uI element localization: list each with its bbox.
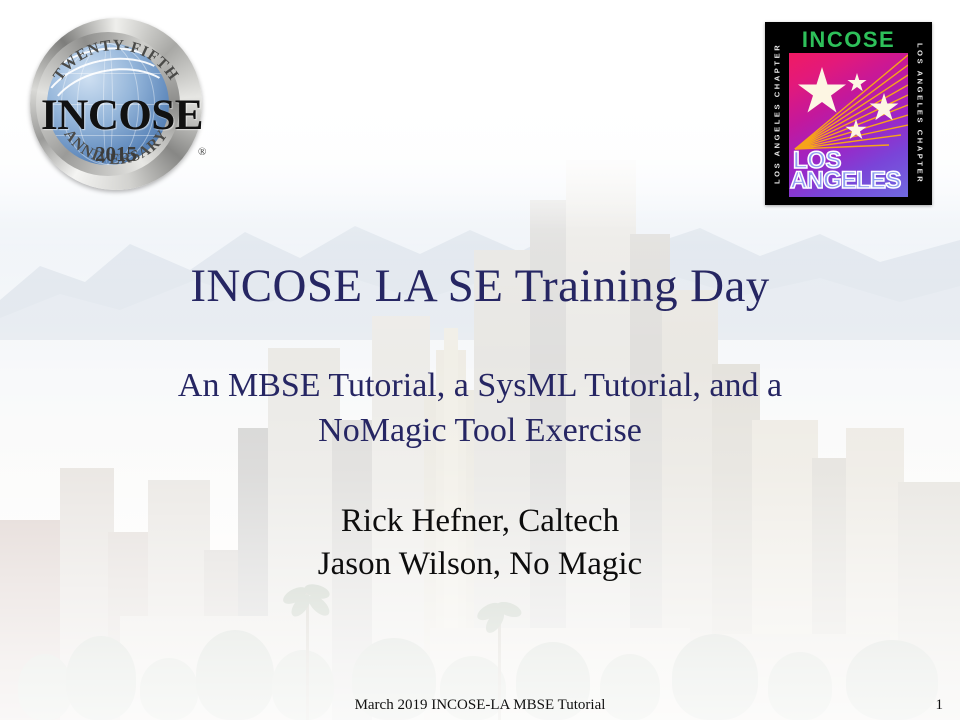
slide-title: INCOSE LA SE Training Day (0, 262, 960, 311)
la-logo-incose-wordmark: INCOSE (788, 28, 909, 52)
presentation-slide: TWENTY-FIFTH ANNIVERSARY INCOSE 2015 ® I… (0, 0, 960, 720)
presenter-line-1: Rick Hefner, Caltech (0, 500, 960, 543)
anniversary-year: 2015 (30, 142, 202, 167)
incose-la-chapter-logo: INCOSE LOS ANGELES CHAPTER LOS ANGELES C… (765, 22, 932, 205)
la-logo-city-line2: ANGELES (790, 170, 900, 192)
slide-subtitle: An MBSE Tutorial, a SysML Tutorial, and … (50, 364, 910, 454)
slide-page-number: 1 (936, 697, 944, 714)
presenter-names: Rick Hefner, Caltech Jason Wilson, No Ma… (0, 500, 960, 586)
la-logo-side-text-left: LOS ANGELES CHAPTER (767, 28, 787, 199)
registered-trademark-icon: ® (198, 146, 206, 158)
subtitle-line-2: NoMagic Tool Exercise (50, 409, 910, 454)
presenter-line-2: Jason Wilson, No Magic (0, 543, 960, 586)
slide-footer: March 2019 INCOSE-LA MBSE Tutorial (0, 697, 960, 714)
subtitle-line-1: An MBSE Tutorial, a SysML Tutorial, and … (50, 364, 910, 409)
la-logo-side-text-right: LOS ANGELES CHAPTER (910, 28, 930, 199)
incose-wordmark: INCOSE (22, 94, 222, 137)
incose-anniversary-logo: TWENTY-FIFTH ANNIVERSARY INCOSE 2015 ® (22, 18, 222, 190)
